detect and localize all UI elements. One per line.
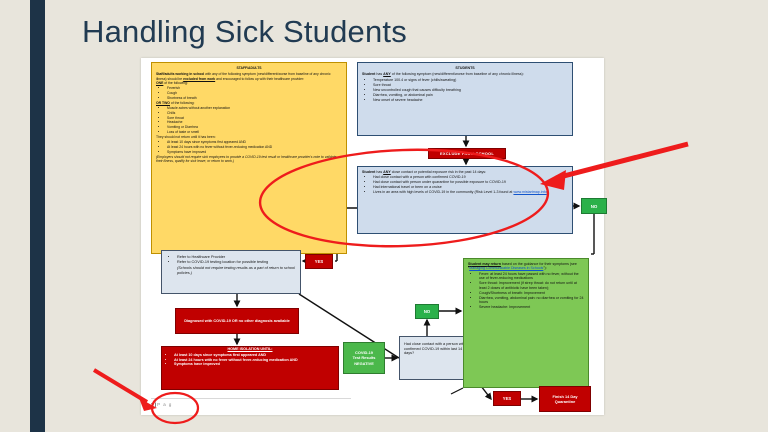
list-item: New uncontrolled cough that causes diffi… [373, 88, 568, 92]
exposure-intro: Student has ANY close contact or potenti… [362, 170, 568, 174]
staff-return-list: At least 10 days since symptoms first ap… [156, 140, 342, 154]
student-may-return-box: Student may return based on the guidance… [463, 258, 589, 388]
slide-accent-bar [30, 0, 45, 432]
document-page: STAFF/ADULTS Staff/adults working in sch… [141, 58, 604, 415]
list-item: Had international travel or been on a cr… [373, 185, 568, 189]
page-number: 7 [151, 402, 153, 407]
decision-yes-bottom: YES [493, 391, 521, 406]
decision-no-mid: NO [415, 304, 439, 319]
list-item: Diarrhea, vomiting, or abdominal pain [373, 93, 568, 97]
list-item: Severe headache: Improvement [479, 305, 584, 309]
list-item: Had close contact with person under quar… [373, 180, 568, 184]
list-item: Chills [167, 111, 342, 115]
list-item: At least 10 days since symptoms first ap… [174, 353, 338, 357]
decision-no-top: NO [581, 198, 607, 214]
staff-return-intro: They should not return until it has been… [156, 135, 342, 139]
may-return-intro: Student may return based on the guidance… [468, 262, 584, 271]
list-item: Sore throat [373, 83, 568, 87]
red-arrow-page-number [94, 370, 147, 402]
decision-yes-left: YES [305, 254, 333, 269]
exposure-risk-box: Student has ANY close contact or potenti… [357, 166, 573, 234]
test-negative-box: COVID-19 Test Results NEGATIVE [343, 342, 385, 374]
staff-two-label: OR TWO of the following: [156, 101, 342, 105]
list-item: Cough/Shortness of breath: Improvement [479, 291, 584, 295]
list-item: Cough [167, 91, 342, 95]
page-footer-separator: | [155, 402, 156, 407]
staff-one-label: ONE of the following: [156, 81, 342, 85]
list-item: Had close contact with a person with con… [373, 175, 568, 179]
finish-quarantine-line2: Quarantine [555, 399, 576, 404]
list-item: Muscle aches without another explanation [167, 106, 342, 110]
list-item: Vomiting or Diarrhea [167, 125, 342, 129]
list-item: At least 24 hours with no fever without … [167, 145, 342, 149]
list-item: New onset of severe headache [373, 98, 568, 102]
students-title: STUDENTS [362, 66, 568, 70]
staff-two-list: Muscle aches without another explanation… [156, 106, 342, 134]
managing-communicable-diseases-link[interactable]: Managing Communicable Diseases in School… [469, 266, 543, 270]
list-item: Symptoms have improved [167, 150, 342, 154]
staff-adults-title: STAFF/ADULTS [156, 66, 342, 70]
exposure-list: Had close contact with a person with con… [362, 175, 568, 194]
staff-note: (Employers should not require sick emplo… [156, 155, 342, 164]
refer-box: Refer to Healthcare Provider Refer to CO… [161, 250, 301, 294]
students-intro: Student has ANY of the following symptom… [362, 72, 568, 76]
list-item: At least 24 hours with no fever without … [174, 358, 338, 362]
finish-quarantine-line1: Finish 14 Day [552, 394, 577, 399]
home-isolation-list: At least 10 days since symptoms first ap… [162, 353, 338, 366]
list-item: Symptoms have improved [174, 362, 338, 366]
list-item: Feverish [167, 86, 342, 90]
home-isolation-box: HOME ISOLATION UNTIL: At least 10 days s… [161, 346, 339, 390]
close-contact-decision-box: Had close contact with a person with con… [399, 336, 471, 380]
exclude-from-school-banner: EXCLUDE FROM SCHOOL [428, 148, 506, 159]
staff-adults-intro: Staff/adults working in school with any … [156, 72, 342, 81]
list-item: Refer to Healthcare Provider [177, 255, 296, 260]
page-title: Handling Sick Students [82, 14, 407, 50]
list-item: Lives in an area with high levels of COV… [373, 190, 568, 194]
test-negative-line3: NEGATIVE [354, 361, 374, 367]
list-item: Sore throat: Improvement (if strep throa… [479, 281, 584, 290]
list-item: Refer to COVID-19 testing location for p… [177, 260, 296, 265]
students-symptom-list: Temperature 100.4 or signs of fever (chi… [362, 78, 568, 102]
list-item: Sore throat [167, 116, 342, 120]
list-item: Temperature 100.4 or signs of fever (chi… [373, 78, 568, 82]
staff-adults-box: STAFF/ADULTS Staff/adults working in sch… [151, 62, 347, 254]
home-isolation-title: HOME ISOLATION UNTIL: [162, 347, 338, 351]
refer-list: Refer to Healthcare Provider Refer to CO… [166, 255, 296, 265]
list-item: Shortness of breath [167, 96, 342, 100]
staff-one-list: Feverish Cough Shortness of breath [156, 86, 342, 100]
diagnosed-box: Diagnosed with COVID-19 OR no other diag… [175, 308, 299, 334]
list-item: At least 10 days since symptoms first ap… [167, 140, 342, 144]
finish-quarantine-box: Finish 14 Day Quarantine [539, 386, 591, 412]
may-return-list: Fever: at least 24 hours have passed wit… [468, 272, 584, 310]
list-item: Headache [167, 120, 342, 124]
page-footer-word: P a g [157, 402, 172, 407]
refer-note: (Schools should not require testing resu… [166, 266, 296, 275]
slide-canvas: Handling Sick Students [0, 0, 768, 432]
students-box: STUDENTS Student has ANY of the followin… [357, 62, 573, 136]
mistartmap-link[interactable]: www.mistartmap.info [513, 190, 546, 194]
page-footer: 7 | P a g [151, 398, 351, 407]
list-item: Loss of taste or smell [167, 130, 342, 134]
list-item: Fever: at least 24 hours have passed wit… [479, 272, 584, 281]
list-item: Diarrhea, vomiting, abdominal pain: no d… [479, 296, 584, 305]
